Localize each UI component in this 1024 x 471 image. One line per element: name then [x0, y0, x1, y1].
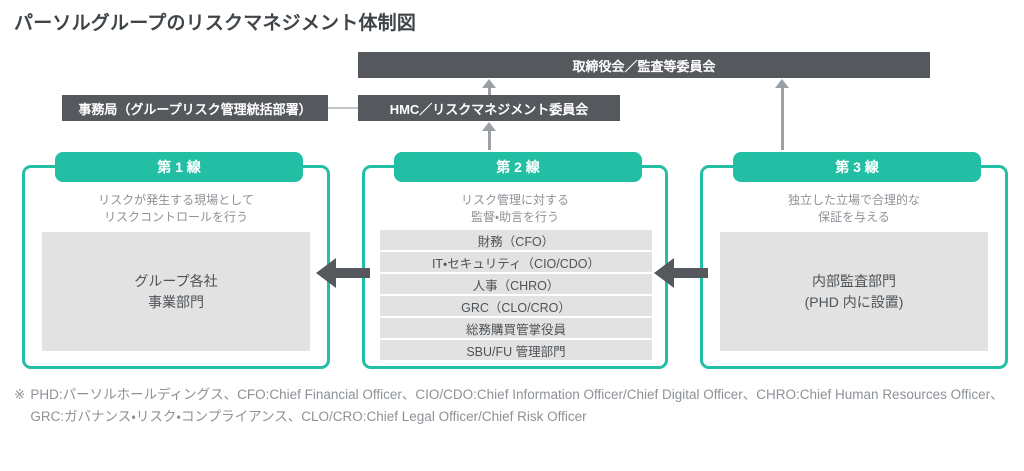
arrow-head	[482, 79, 496, 88]
column-line-3-tab: 第 3 線	[733, 152, 981, 182]
internal-audit-panel: 内部監査部門 (PHD 内に設置)	[720, 232, 988, 351]
page-title: パーソルグループのリスクマネジメント体制図	[14, 8, 416, 35]
arrow-left-line3-to-line2-icon	[654, 258, 708, 288]
board-of-directors-box: 取締役会／監査等委員会	[358, 52, 930, 78]
arrow-up-line2-to-hmc-icon	[482, 122, 496, 150]
arrow-head	[775, 79, 789, 88]
arrow-up-hmc-to-board-icon	[482, 79, 496, 95]
column-line-1: 第 1 線 リスクが発生する現場として リスクコントロールを行う グループ各社 …	[22, 165, 330, 369]
panel-text-line-1: 内部監査部門	[805, 271, 904, 292]
description-line-2: 監督・助言を行う	[365, 209, 665, 226]
footnote-text: PHD:パーソルホールディングス、CFO:Chief Financial Off…	[30, 384, 1010, 428]
column-line-2-tab: 第 2 線	[394, 152, 642, 182]
arrow-up-line3-to-board-icon	[775, 79, 789, 150]
description-line-1: リスクが発生する現場として	[25, 192, 327, 209]
description-line-1: リスク管理に対する	[365, 192, 665, 209]
hmc-risk-management-committee-box: HMC／リスクマネジメント委員会	[358, 95, 620, 121]
panel-text-line-2: (PHD 内に設置)	[805, 292, 904, 313]
list-item: 総務購買管掌役員	[380, 318, 652, 338]
list-item: 人事（CHRO）	[380, 274, 652, 294]
panel-text-line-2: 事業部門	[134, 292, 217, 313]
column-line-1-tab: 第 1 線	[55, 152, 303, 182]
line-2-role-list: 財務（CFO） IT・セキュリティ（CIO/CDO） 人事（CHRO） GRC（…	[380, 230, 652, 362]
panel-text-line-1: グループ各社	[134, 271, 217, 292]
arrow-head	[482, 122, 496, 131]
arrow-head	[316, 258, 336, 288]
description-line-2: 保証を与える	[703, 209, 1005, 226]
list-item: GRC（CLO/CRO）	[380, 296, 652, 316]
panel-text: グループ各社 事業部門	[134, 271, 217, 313]
footnote-mark: ※	[14, 384, 25, 428]
panel-text: 内部監査部門 (PHD 内に設置)	[805, 271, 904, 313]
column-line-3: 第 3 線 独立した立場で合理的な 保証を与える 内部監査部門 (PHD 内に設…	[700, 165, 1008, 369]
list-item: IT・セキュリティ（CIO/CDO）	[380, 252, 652, 272]
description-line-2: リスクコントロールを行う	[25, 209, 327, 226]
secretariat-to-hmc-connector	[328, 107, 358, 109]
column-line-3-description: 独立した立場で合理的な 保証を与える	[703, 192, 1005, 226]
arrow-shaft	[488, 129, 491, 150]
arrow-shaft	[781, 86, 784, 150]
arrow-shaft	[672, 268, 708, 278]
list-item: SBU/FU 管理部門	[380, 340, 652, 360]
arrow-shaft	[334, 268, 370, 278]
column-line-1-description: リスクが発生する現場として リスクコントロールを行う	[25, 192, 327, 226]
arrow-left-line2-to-line1-icon	[316, 258, 370, 288]
arrow-head	[654, 258, 674, 288]
list-item: 財務（CFO）	[380, 230, 652, 250]
column-line-2: 第 2 線 リスク管理に対する 監督・助言を行う 財務（CFO） IT・セキュリ…	[362, 165, 668, 369]
secretariat-box: 事務局（グループリスク管理統括部署）	[62, 95, 328, 121]
footnote: ※ PHD:パーソルホールディングス、CFO:Chief Financial O…	[14, 384, 1010, 428]
column-line-2-description: リスク管理に対する 監督・助言を行う	[365, 192, 665, 226]
group-companies-panel: グループ各社 事業部門	[42, 232, 310, 351]
description-line-1: 独立した立場で合理的な	[703, 192, 1005, 209]
